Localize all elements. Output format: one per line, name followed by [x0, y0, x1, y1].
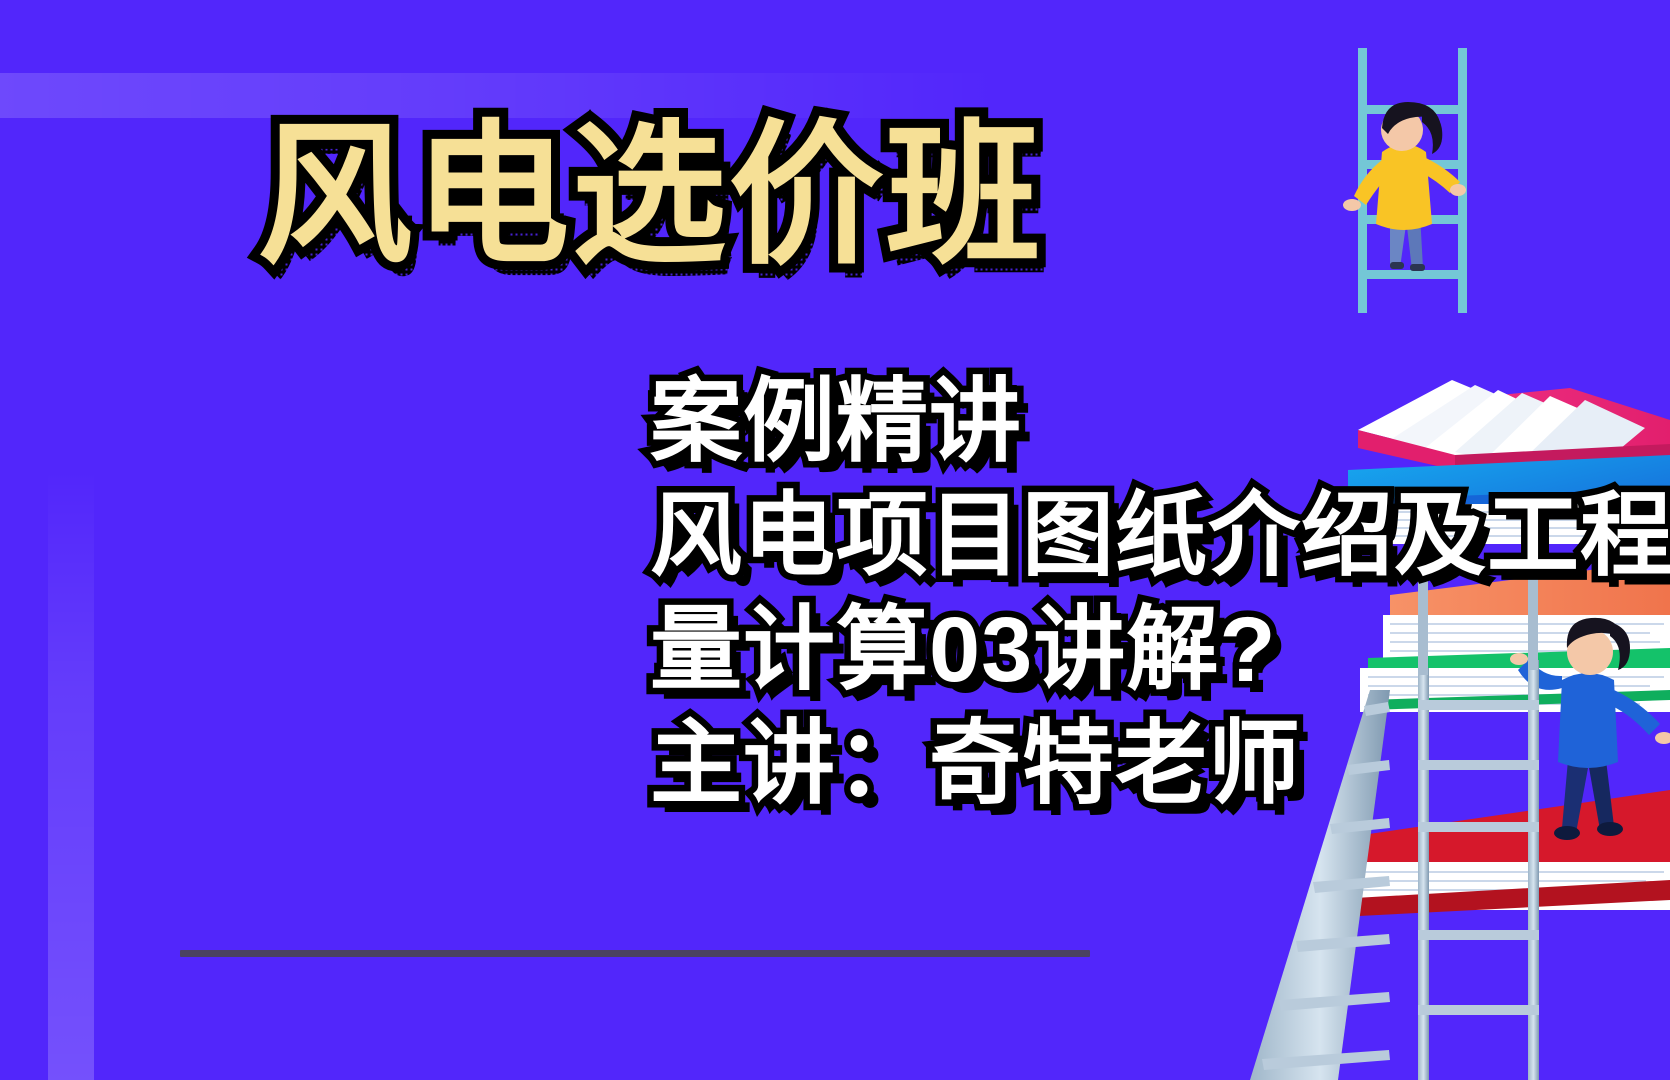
slide-title: 风电选价班 风电选价班 风电选价班 — [0, 118, 1300, 318]
slide-canvas: 风电选价班 风电选价班 风电选价班 案例精讲 案例精讲 案例精讲 风电项目图纸介… — [0, 0, 1670, 1080]
bottom-divider-line — [180, 950, 1090, 957]
slide-text-block: 风电选价班 风电选价班 风电选价班 案例精讲 案例精讲 案例精讲 风电项目图纸介… — [0, 0, 1300, 1000]
title-fill-layer: 风电选价班 — [0, 118, 1300, 273]
